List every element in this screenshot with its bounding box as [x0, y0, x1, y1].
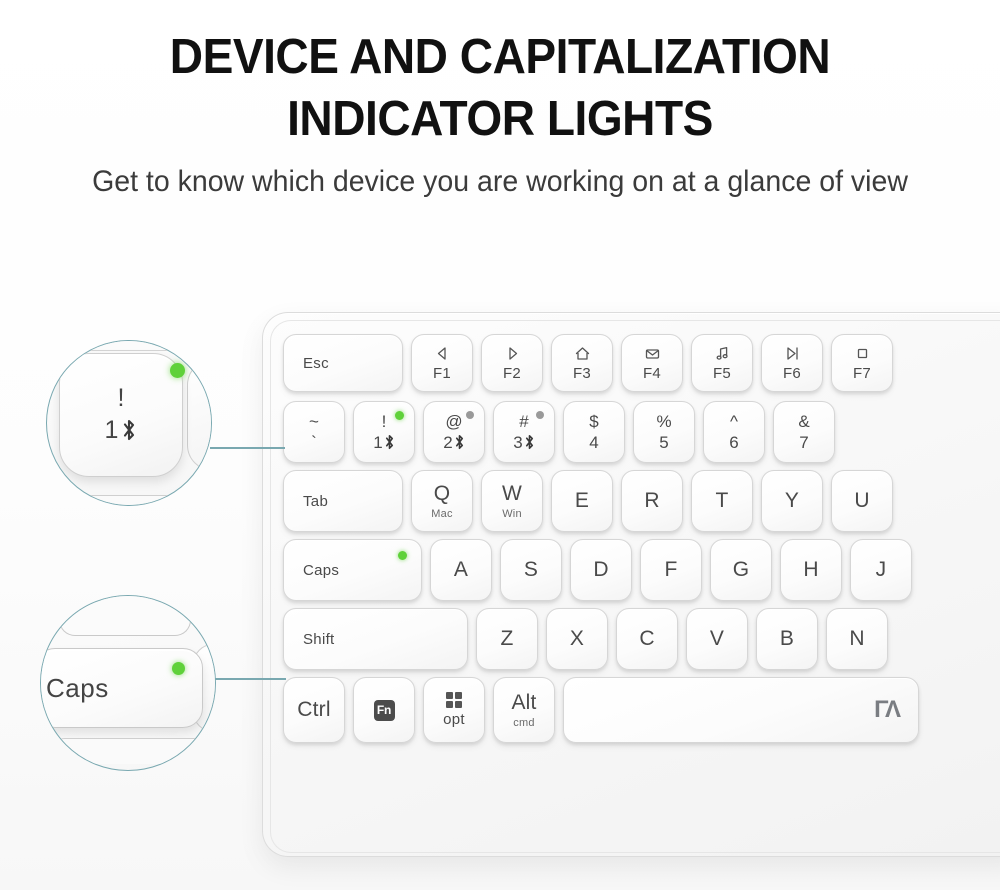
key-row-function-row: EscF1F2F3F4F5F6F7: [283, 334, 1000, 392]
magnified-digit-1-key: ! 1: [59, 353, 183, 477]
key-fkey-label: F4: [643, 365, 661, 382]
key-sublabel: Mac: [431, 508, 452, 520]
key-fkey-label: opt: [443, 711, 465, 728]
key-f4[interactable]: F4: [621, 334, 683, 392]
play-next-icon: [783, 345, 802, 362]
key-label: E: [575, 489, 589, 513]
key-f3[interactable]: F3: [551, 334, 613, 392]
key-f1[interactable]: F1: [411, 334, 473, 392]
windows-grid-icon: [446, 692, 462, 708]
key-fn[interactable]: Fn: [353, 677, 415, 743]
key-label: S: [524, 558, 538, 582]
key-n[interactable]: N: [826, 608, 888, 670]
key-a[interactable]: A: [430, 539, 492, 601]
callout-connector-bluetooth: [210, 447, 285, 449]
page-subtitle: Get to know which device you are working…: [25, 164, 975, 200]
magnified-caps-lower-edge: [51, 738, 211, 764]
key-sublabel: Win: [502, 508, 522, 520]
key-w[interactable]: WWin: [481, 470, 543, 532]
key-label: Alt: [511, 691, 536, 715]
key-b[interactable]: B: [756, 608, 818, 670]
keyboard-body: EscF1F2F3F4F5F6F7~`!1 @2 #3 $4%5^6&7TabQ…: [262, 312, 1000, 857]
key-f7[interactable]: F7: [831, 334, 893, 392]
page-title-line-1: DEVICE AND CAPITALIZATION: [30, 26, 970, 88]
key-esc[interactable]: Esc: [283, 334, 403, 392]
key-legend-bottom: 3: [513, 433, 534, 452]
key-label: V: [710, 627, 724, 651]
key-digit-1[interactable]: !1: [353, 401, 415, 463]
next-track-icon: [503, 345, 522, 362]
key-c[interactable]: C: [616, 608, 678, 670]
key-digit-5[interactable]: %5: [633, 401, 695, 463]
key-digit-4[interactable]: $4: [563, 401, 625, 463]
key-legend-top: %: [656, 413, 671, 430]
key-legend-top: @: [445, 413, 462, 430]
key-legend-top: &: [798, 413, 809, 430]
page-title-line-2: INDICATOR LIGHTS: [30, 88, 970, 150]
key-u[interactable]: U: [831, 470, 893, 532]
key-label: Caps: [303, 562, 339, 579]
key-label: R: [644, 489, 659, 513]
key-space[interactable]: ΓΛ: [563, 677, 919, 743]
magnified-lower-key-edge: [61, 495, 191, 506]
callout-bluetooth-key: ! 1: [46, 340, 212, 506]
led-indicator-digit-2: [466, 411, 474, 419]
key-label: Q: [434, 482, 451, 506]
key-label: Shift: [303, 631, 335, 648]
key-tilde[interactable]: ~`: [283, 401, 345, 463]
key-fkey-label: F2: [503, 365, 521, 382]
brand-logo: ΓΛ: [874, 696, 900, 724]
key-shift[interactable]: Shift: [283, 608, 468, 670]
key-label: H: [803, 558, 818, 582]
key-legend-bottom: 2: [443, 433, 464, 452]
key-digit-3[interactable]: #3: [493, 401, 555, 463]
magnified-caps-upper-edge: [59, 595, 191, 636]
promo-banner: DEVICE AND CAPITALIZATION INDICATOR LIGH…: [0, 0, 1000, 890]
key-label: Esc: [303, 355, 329, 372]
key-legend-top: ^: [730, 413, 738, 430]
key-label: F: [664, 558, 677, 582]
key-j[interactable]: J: [850, 539, 912, 601]
key-opt[interactable]: opt: [423, 677, 485, 743]
key-legend-bottom: `: [311, 433, 317, 452]
key-ctrl[interactable]: Ctrl: [283, 677, 345, 743]
magnified-key-bottom-legend: 1: [105, 416, 138, 444]
prev-track-icon: [433, 345, 452, 362]
bluetooth-icon: [454, 434, 465, 450]
key-alt-cmd[interactable]: Altcmd: [493, 677, 555, 743]
key-fkey-label: F1: [433, 365, 451, 382]
music-note-icon: [713, 345, 732, 362]
magnified-upper-key-edge: [63, 340, 189, 351]
key-f5[interactable]: F5: [691, 334, 753, 392]
magnified-caps-key: Caps: [40, 648, 203, 728]
key-legend-bottom: 5: [659, 433, 668, 452]
key-g[interactable]: G: [710, 539, 772, 601]
key-legend-top: #: [519, 413, 528, 430]
key-label: W: [502, 482, 522, 506]
key-fkey-label: F6: [783, 365, 801, 382]
key-y[interactable]: Y: [761, 470, 823, 532]
key-sublabel: cmd: [513, 717, 534, 729]
header: DEVICE AND CAPITALIZATION INDICATOR LIGH…: [0, 0, 1000, 200]
key-legend-bottom: 7: [799, 433, 808, 452]
magnified-adjacent-key: [187, 359, 212, 471]
key-row-qwerty-row: TabQMacWWinERTYU: [283, 470, 1000, 532]
callout-connector-caps: [214, 678, 286, 680]
bluetooth-icon: [524, 434, 535, 450]
key-v[interactable]: V: [686, 608, 748, 670]
key-legend-top: $: [589, 413, 598, 430]
key-d[interactable]: D: [570, 539, 632, 601]
home-icon: [573, 345, 592, 362]
key-f[interactable]: F: [640, 539, 702, 601]
key-digit-7[interactable]: &7: [773, 401, 835, 463]
key-f6[interactable]: F6: [761, 334, 823, 392]
key-label: C: [639, 627, 654, 651]
fn-badge: Fn: [374, 700, 395, 721]
key-f2[interactable]: F2: [481, 334, 543, 392]
key-legend-top: !: [382, 413, 387, 430]
key-label: Z: [500, 627, 513, 651]
key-grid: EscF1F2F3F4F5F6F7~`!1 @2 #3 $4%5^6&7TabQ…: [283, 334, 1000, 743]
key-tab[interactable]: Tab: [283, 470, 403, 532]
key-t[interactable]: T: [691, 470, 753, 532]
key-legend-bottom: 6: [729, 433, 738, 452]
key-label: U: [854, 489, 869, 513]
key-label: J: [876, 558, 887, 582]
key-label: Y: [785, 489, 799, 513]
key-digit-2[interactable]: @2: [423, 401, 485, 463]
key-label: A: [454, 558, 468, 582]
key-label: Ctrl: [297, 698, 330, 722]
mail-icon: [643, 345, 662, 362]
key-fkey-label: F7: [853, 365, 871, 382]
key-row-number-row: ~`!1 @2 #3 $4%5^6&7: [283, 401, 1000, 463]
key-h[interactable]: H: [780, 539, 842, 601]
key-fkey-label: F5: [713, 365, 731, 382]
magnified-key-top-legend: !: [118, 386, 125, 411]
key-x[interactable]: X: [546, 608, 608, 670]
led-indicator-digit-1: [395, 411, 404, 420]
led-indicator-caps: [398, 551, 407, 560]
bluetooth-icon: [121, 419, 137, 441]
magnified-led-indicator: [170, 363, 185, 378]
key-label: N: [849, 627, 864, 651]
key-label: G: [733, 558, 750, 582]
key-digit-6[interactable]: ^6: [703, 401, 765, 463]
key-r[interactable]: R: [621, 470, 683, 532]
key-s[interactable]: S: [500, 539, 562, 601]
stop-square-icon: [853, 345, 872, 362]
key-legend-bottom: 1: [373, 433, 394, 452]
led-indicator-digit-3: [536, 411, 544, 419]
callout-caps-key: Caps: [40, 595, 216, 771]
key-z[interactable]: Z: [476, 608, 538, 670]
magnified-caps-led-indicator: [172, 662, 185, 675]
key-label: T: [715, 489, 728, 513]
key-row-bottom-row: CtrlFnoptAltcmdΓΛ: [283, 677, 1000, 743]
magnified-caps-label: Caps: [46, 673, 109, 704]
key-legend-top: ~: [309, 413, 319, 430]
key-row-home-row: CapsASDFGHJ: [283, 539, 1000, 601]
key-label: D: [593, 558, 608, 582]
key-caps[interactable]: Caps: [283, 539, 422, 601]
key-row-shift-row: ShiftZXCVBN: [283, 608, 1000, 670]
key-legend-bottom: 4: [589, 433, 598, 452]
key-label: B: [780, 627, 794, 651]
key-fkey-label: F3: [573, 365, 591, 382]
key-q[interactable]: QMac: [411, 470, 473, 532]
bluetooth-icon: [384, 434, 395, 450]
key-label: X: [570, 627, 584, 651]
key-e[interactable]: E: [551, 470, 613, 532]
key-label: Tab: [303, 493, 328, 510]
